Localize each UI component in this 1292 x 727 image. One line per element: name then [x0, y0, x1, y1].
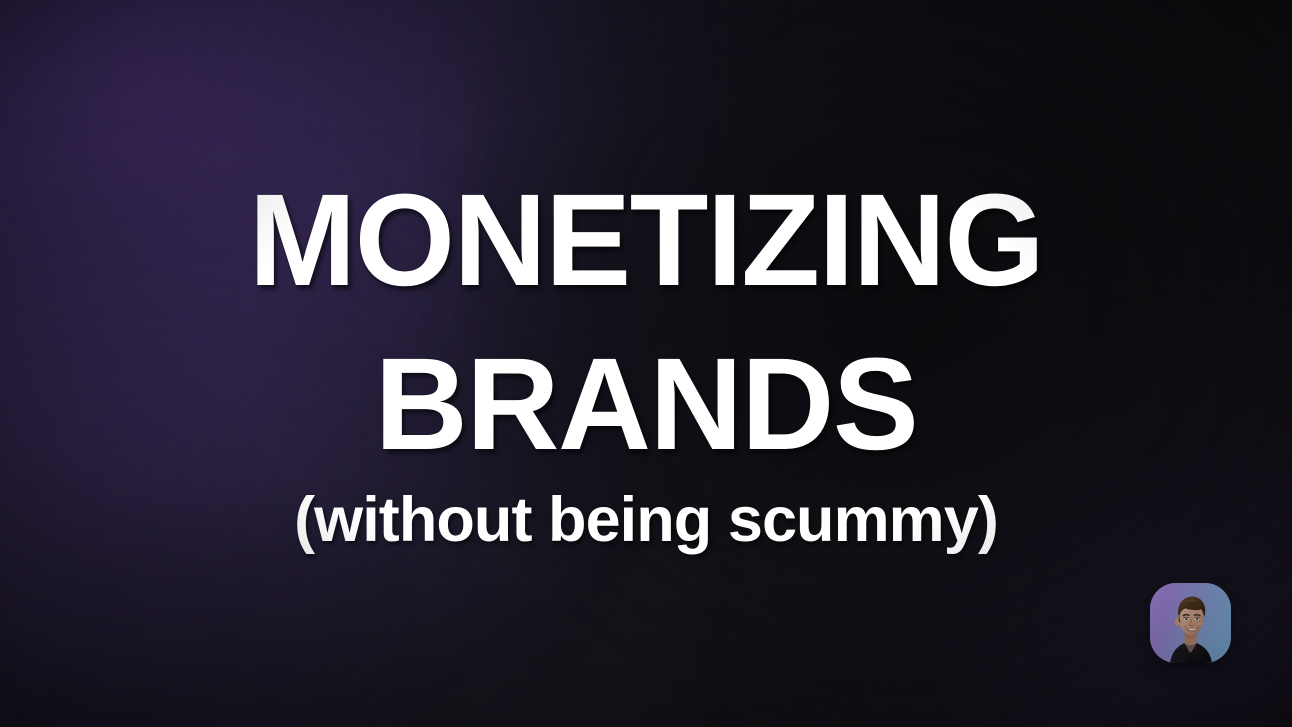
presentation-slide: MONETIZING BRANDS (without being scummy)	[0, 0, 1292, 727]
slide-title-line-1: MONETIZING	[10, 174, 1283, 305]
slide-title-line-2: BRANDS	[10, 338, 1283, 469]
presenter-avatar	[1150, 583, 1231, 663]
slide-subtitle: (without being scummy)	[0, 489, 1292, 552]
avatar-portrait-icon	[1150, 583, 1231, 663]
